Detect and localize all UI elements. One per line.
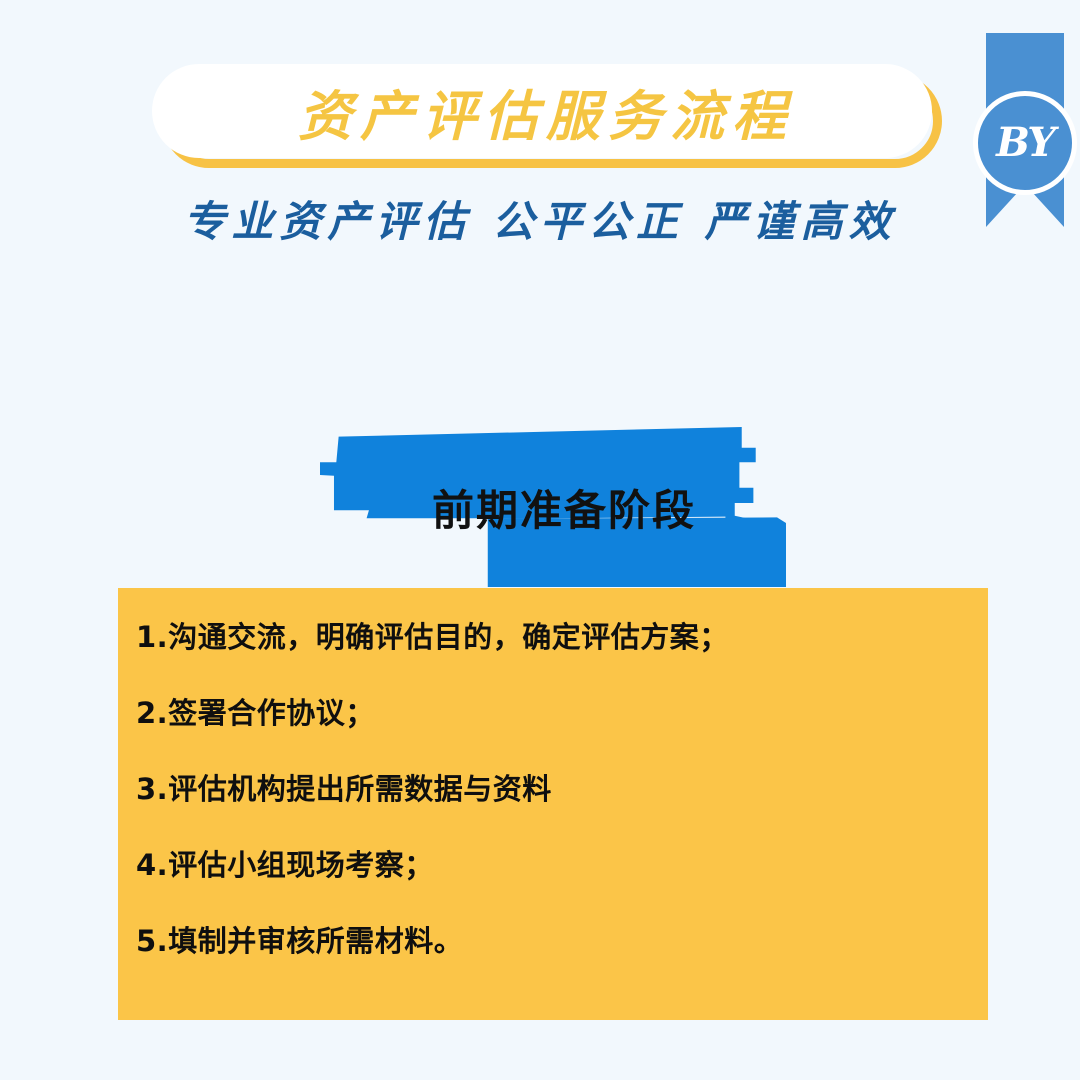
poster-canvas: 资产评估服务流程 BY 专业资产评估 公平公正 严谨高效 前期准备阶段 1.沟通… (0, 0, 1080, 1080)
list-item: 4.评估小组现场考察； (136, 850, 962, 882)
badge-initials: BY (996, 123, 1054, 163)
list-item: 2.签署合作协议； (136, 698, 962, 730)
stage-banner: 前期准备阶段 (320, 427, 786, 587)
steps-panel: 1.沟通交流，明确评估目的，确定评估方案； 2.签署合作协议； 3.评估机构提出… (118, 588, 988, 1020)
stage-title: 前期准备阶段 (320, 427, 786, 587)
page-title: 资产评估服务流程 (152, 64, 932, 158)
badge-circle-icon: BY (973, 91, 1077, 195)
steps-list: 1.沟通交流，明确评估目的，确定评估方案； 2.签署合作协议； 3.评估机构提出… (136, 622, 962, 957)
list-item: 3.评估机构提出所需数据与资料 (136, 774, 962, 806)
title-banner: 资产评估服务流程 (152, 64, 942, 168)
page-subtitle: 专业资产评估 公平公正 严谨高效 (0, 188, 1080, 249)
list-item: 1.沟通交流，明确评估目的，确定评估方案； (136, 622, 962, 654)
list-item: 5.填制并审核所需材料。 (136, 926, 962, 958)
